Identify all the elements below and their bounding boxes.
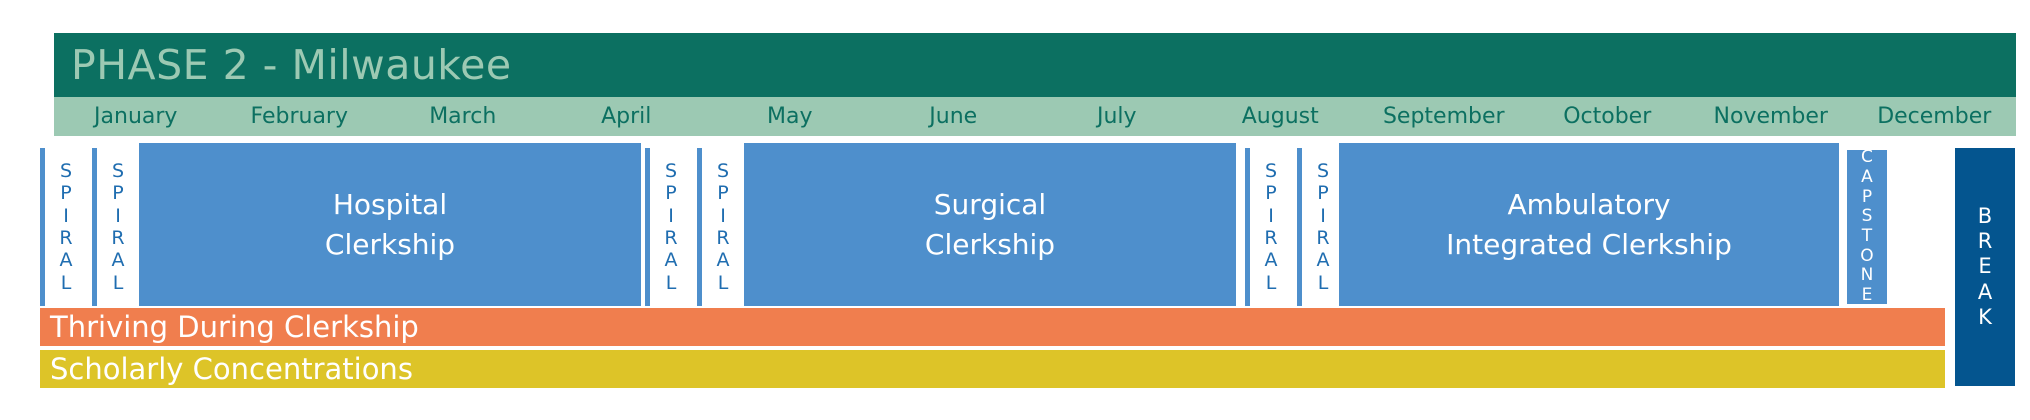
spiral-block-2[interactable]: S P I R A L	[92, 148, 139, 306]
break-label: B R E A K	[1978, 204, 1993, 330]
clerkship-block-ambulatory[interactable]: Ambulatory Integrated Clerkship	[1339, 143, 1839, 306]
spiral-label: S P I R A L	[1264, 160, 1277, 294]
spiral-block-5[interactable]: S P I R A L	[1245, 148, 1292, 306]
spiral-block-1[interactable]: S P I R A L	[40, 148, 87, 306]
longitudinal-bar-label: Scholarly Concentrations	[40, 355, 413, 384]
clerkship-line-1: Hospital	[333, 185, 447, 225]
longitudinal-bar-label: Thriving During Clerkship	[40, 313, 419, 342]
spiral-label: S P I R A L	[111, 160, 124, 294]
capstone-block[interactable]: C A P S T O N E	[1845, 148, 1889, 306]
spiral-label: S P I R A L	[716, 160, 729, 294]
spiral-label: S P I R A L	[1316, 160, 1329, 294]
timeline-track: S P I R A L S P I R A L Hospital Clerksh…	[0, 0, 2030, 420]
clerkship-block-surgical[interactable]: Surgical Clerkship	[744, 143, 1236, 306]
clerkship-line-1: Surgical	[934, 185, 1046, 225]
capstone-label: C A P S T O N E	[1860, 148, 1873, 306]
clerkship-block-hospital[interactable]: Hospital Clerkship	[139, 143, 641, 306]
clerkship-line-2: Integrated Clerkship	[1446, 225, 1732, 265]
clerkship-line-2: Clerkship	[925, 225, 1055, 265]
break-block[interactable]: B R E A K	[1955, 148, 2015, 386]
spiral-label: S P I R A L	[664, 160, 677, 294]
clerkship-line-2: Clerkship	[325, 225, 455, 265]
spiral-block-3[interactable]: S P I R A L	[645, 148, 692, 306]
phase2-timeline-graphic: PHASE 2 - Milwaukee January February Mar…	[0, 0, 2030, 420]
longitudinal-bar-thriving-during-clerkship[interactable]: Thriving During Clerkship	[40, 308, 1945, 346]
longitudinal-bar-scholarly-concentrations[interactable]: Scholarly Concentrations	[40, 350, 1945, 388]
spiral-block-6[interactable]: S P I R A L	[1297, 148, 1344, 306]
spiral-label: S P I R A L	[59, 160, 72, 294]
spiral-block-4[interactable]: S P I R A L	[697, 148, 744, 306]
clerkship-line-1: Ambulatory	[1507, 185, 1670, 225]
